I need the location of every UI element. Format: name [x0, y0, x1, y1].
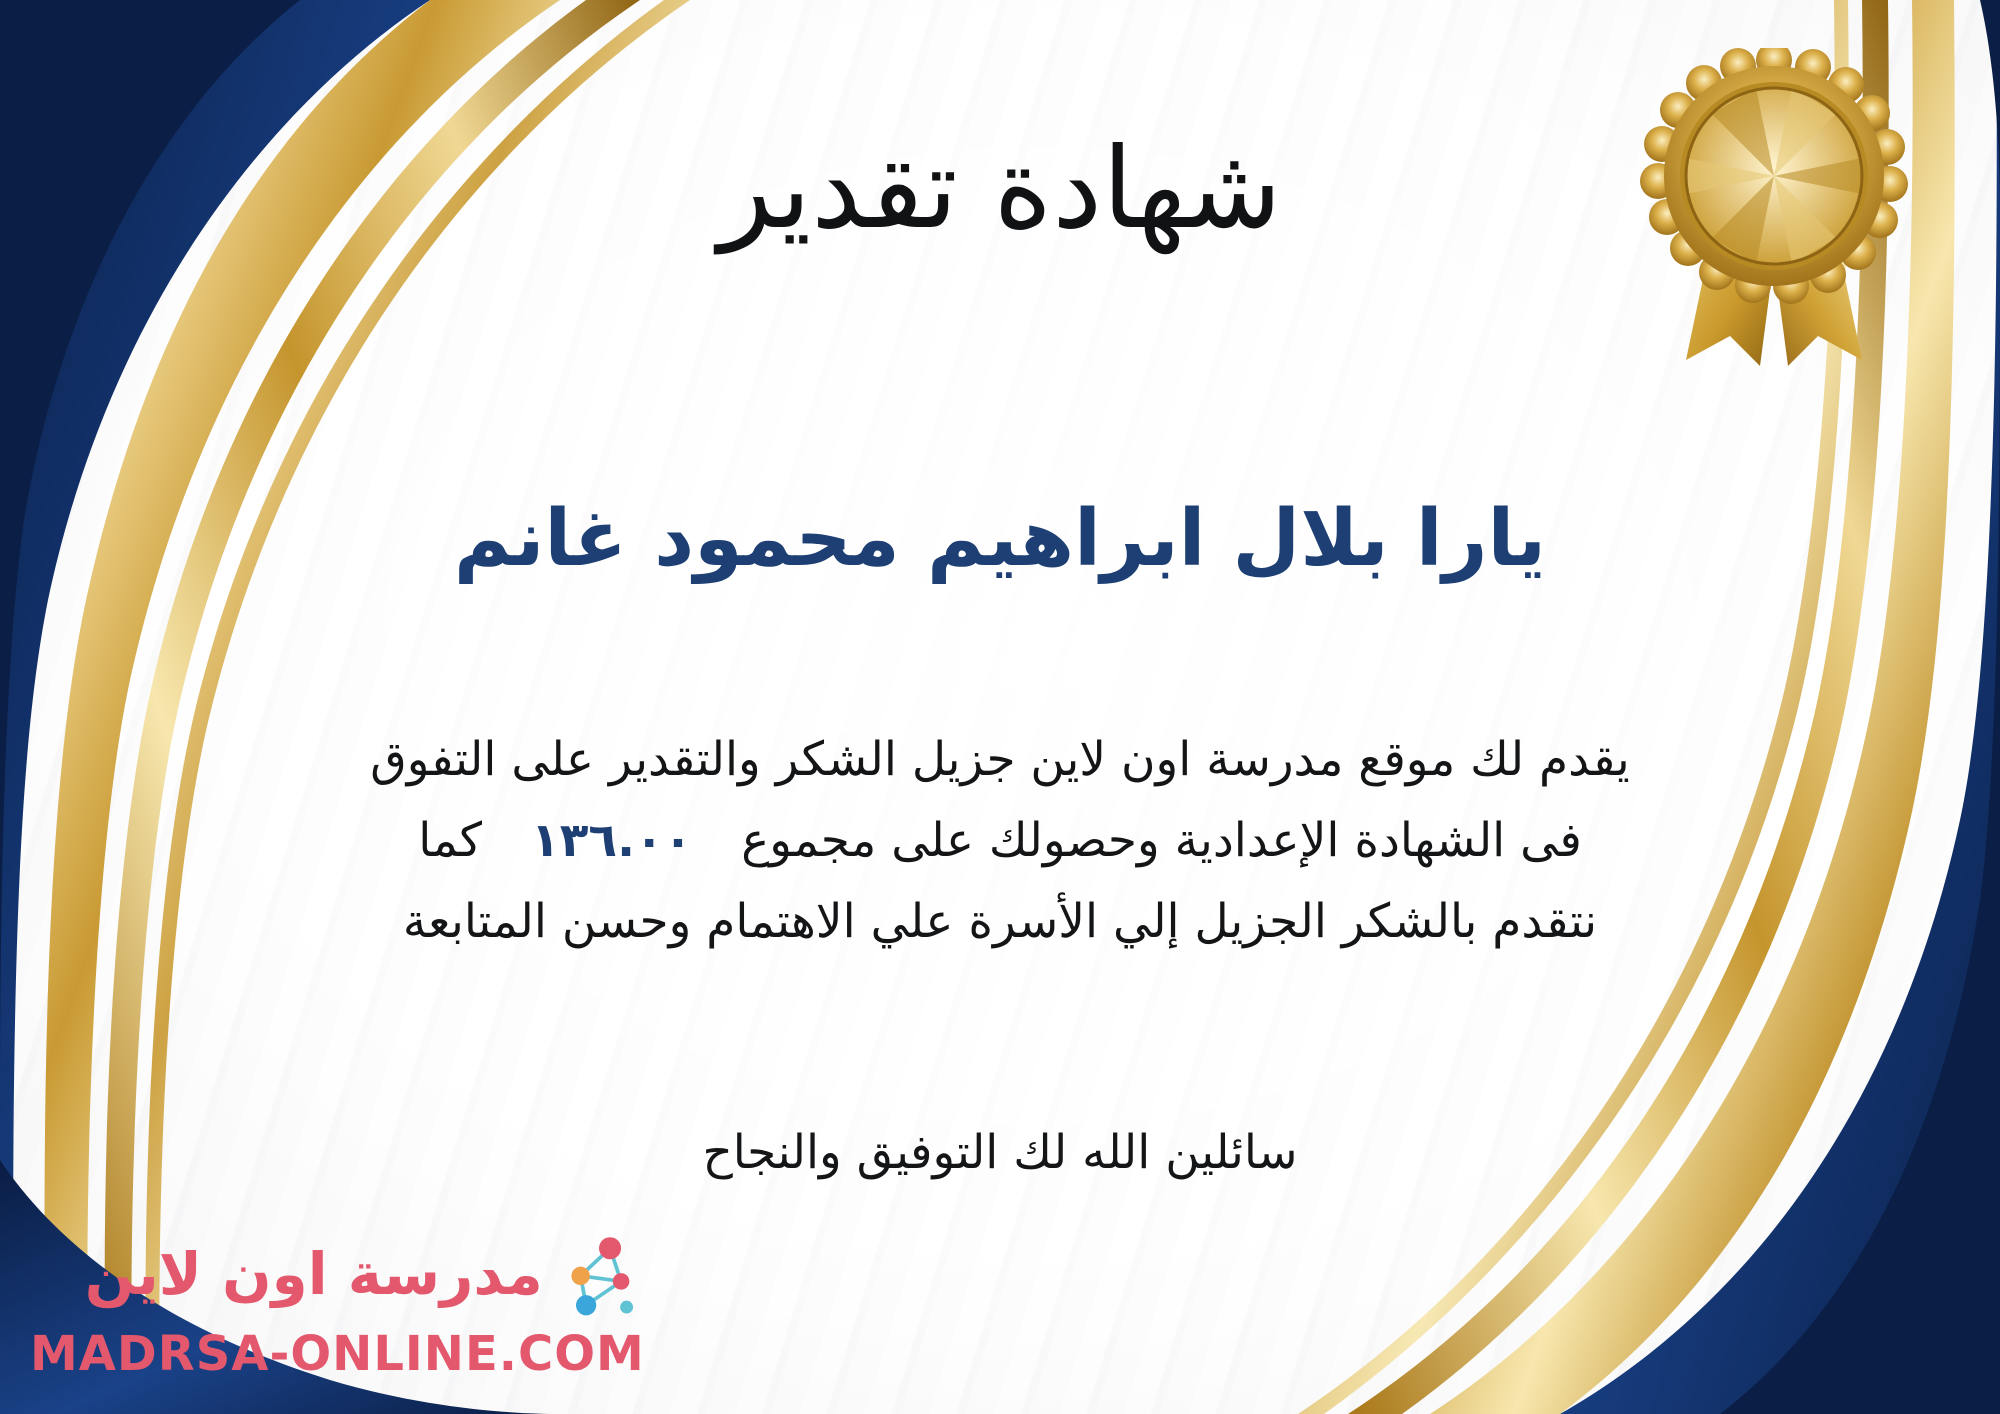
body-line-1: يقدم لك موقع مدرسة اون لاين جزيل الشكر و…: [60, 720, 1940, 801]
body-line-2-prefix: فى الشهادة الإعدادية وحصولك على مجموع: [741, 813, 1582, 868]
certificate-page: شهادة تقدير يارا بلال ابراهيم محمود غانم…: [0, 0, 2000, 1414]
grade-total-value: ١٣٦.٠٠: [497, 813, 726, 868]
brand-name-arabic: مدرسة اون لاين: [85, 1245, 543, 1303]
network-nodes-icon: [553, 1228, 645, 1320]
certificate-body: يقدم لك موقع مدرسة اون لاين جزيل الشكر و…: [60, 720, 1940, 962]
recipient-name: يارا بلال ابراهيم محمود غانم: [0, 495, 2000, 585]
closing-wish: سائلين الله لك التوفيق والنجاح: [0, 1125, 2000, 1180]
certificate-content: شهادة تقدير يارا بلال ابراهيم محمود غانم…: [0, 0, 2000, 1414]
body-line-2: فى الشهادة الإعدادية وحصولك على مجموع ١٣…: [60, 801, 1940, 882]
brand-domain[interactable]: MADRSA-ONLINE.COM: [30, 1326, 645, 1382]
body-line-3: نتقدم بالشكر الجزيل إلي الأسرة علي الاهت…: [60, 882, 1940, 963]
brand-logo[interactable]: مدرسة اون لاين MADRSA-ONLINE.COM: [30, 1228, 645, 1382]
body-line-2-suffix: كما: [418, 813, 482, 868]
brand-row: مدرسة اون لاين: [85, 1228, 645, 1320]
page-title: شهادة تقدير: [0, 128, 2000, 251]
